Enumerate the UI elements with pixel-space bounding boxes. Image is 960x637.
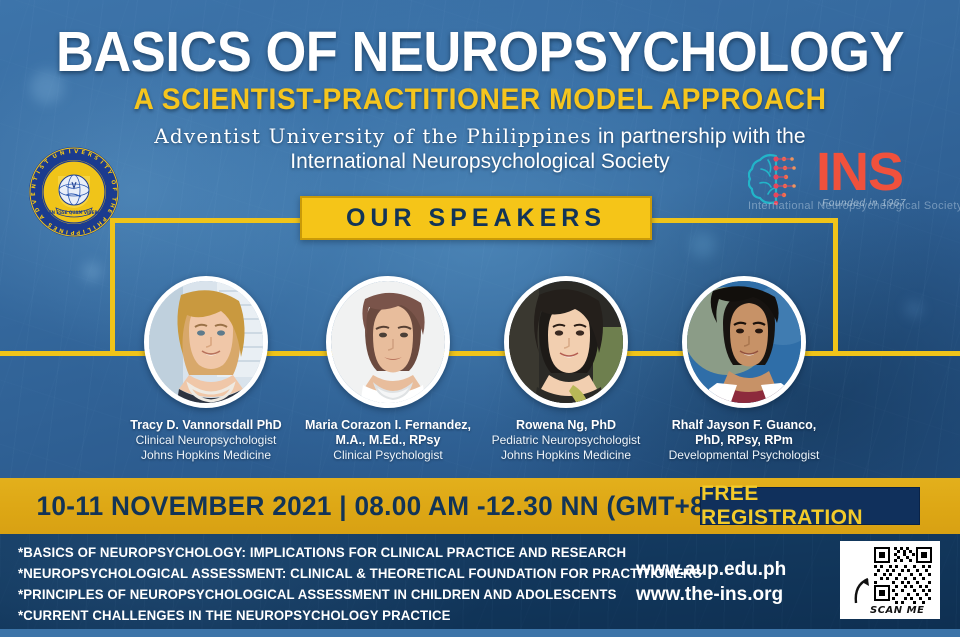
speaker-name: Rowena Ng, PhD <box>466 418 666 433</box>
topic-item: *CURRENT CHALLENGES IN THE NEUROPSYCHOLO… <box>18 605 626 626</box>
date-time-band: 10-11 NOVEMBER 2021 | 08.00 AM -12.30 NN… <box>0 478 960 534</box>
avatar <box>504 276 628 408</box>
topic-item: *PRINCIPLES OF NEUROPSYCHOLOGICAL ASSESS… <box>18 584 626 605</box>
page-subtitle: A SCIENTIST-PRACTITIONER MODEL APPROACH <box>29 84 931 116</box>
svg-text:P: P <box>70 229 74 235</box>
speaker-role: Pediatric Neuropsychologist <box>466 433 666 448</box>
link-aup-website[interactable]: www.aup.edu.ph <box>636 557 786 582</box>
topics-list: *BASICS OF NEUROPSYCHOLOGY: IMPLICATIONS… <box>18 542 638 626</box>
university-name: Adventist University of the Philippines <box>154 124 592 148</box>
speaker-name: Rhalf Jayson F. Guanco, PhD, RPsy, RPm <box>644 418 844 448</box>
bottom-strip <box>0 629 960 637</box>
avatar <box>326 276 450 408</box>
topics-panel: *BASICS OF NEUROPSYCHOLOGY: IMPLICATIONS… <box>0 534 960 637</box>
svg-text:E: E <box>31 192 37 196</box>
speaker-affiliation: Johns Hopkins Medicine <box>106 448 306 463</box>
avatar <box>144 276 268 408</box>
our-speakers-label: OUR SPEAKERS <box>346 204 606 233</box>
page-title: BASICS OF NEUROPSYCHOLOGY <box>38 22 921 82</box>
free-registration-label: FREE REGISTRATION <box>701 482 919 530</box>
speaker-card-1: Tracy D. Vannorsdall PhD Clinical Neurop… <box>106 276 306 463</box>
qr-scan-caption: SCAN ME <box>870 605 924 616</box>
link-ins-website[interactable]: www.the-ins.org <box>636 582 786 607</box>
our-speakers-banner: OUR SPEAKERS <box>300 196 652 240</box>
ins-full-name: International Neuropsychological Society <box>748 200 960 212</box>
website-links: www.aup.edu.ph www.the-ins.org <box>636 557 786 607</box>
speaker-name: Tracy D. Vannorsdall PhD <box>106 418 306 433</box>
speaker-role: Clinical Psychologist <box>288 448 488 463</box>
poster-root: BASICS OF NEUROPSYCHOLOGY A SCIENTIST-PR… <box>0 0 960 637</box>
speaker-affiliation: Johns Hopkins Medicine <box>466 448 666 463</box>
speaker-role: Clinical Neuropsychologist <box>106 433 306 448</box>
speaker-name: Maria Corazon I. Fernandez, M.A., M.Ed.,… <box>288 418 488 448</box>
partnership-text: in partnership with the <box>592 125 806 148</box>
adventist-university-philippines-seal-icon: EN ESSE QUAM VIDERI A D V E N T I S T U … <box>28 146 120 238</box>
speaker-card-2: Maria Corazon I. Fernandez, M.A., M.Ed.,… <box>288 276 488 463</box>
svg-text:P: P <box>76 229 81 235</box>
ins-wordmark: INS <box>816 144 903 200</box>
qr-code[interactable]: SCAN ME <box>840 541 940 619</box>
speaker-role: Developmental Psychologist <box>644 448 844 463</box>
topic-item: *BASICS OF NEUROPSYCHOLOGY: IMPLICATIONS… <box>18 542 626 563</box>
event-date-time: 10-11 NOVEMBER 2021 | 08.00 AM -12.30 NN… <box>36 491 714 522</box>
speaker-card-4: Rhalf Jayson F. Guanco, PhD, RPsy, RPm D… <box>644 276 844 463</box>
speakers-list: Tracy D. Vannorsdall PhD Clinical Neurop… <box>0 276 960 476</box>
speaker-card-3: Rowena Ng, PhD Pediatric Neuropsychologi… <box>466 276 666 463</box>
svg-text:EN ESSE QUAM VIDERI: EN ESSE QUAM VIDERI <box>49 210 100 215</box>
avatar <box>682 276 806 408</box>
topic-item: *NEUROPSYCHOLOGICAL ASSESSMENT: CLINICAL… <box>18 563 626 584</box>
free-registration-button[interactable]: FREE REGISTRATION <box>700 487 920 525</box>
